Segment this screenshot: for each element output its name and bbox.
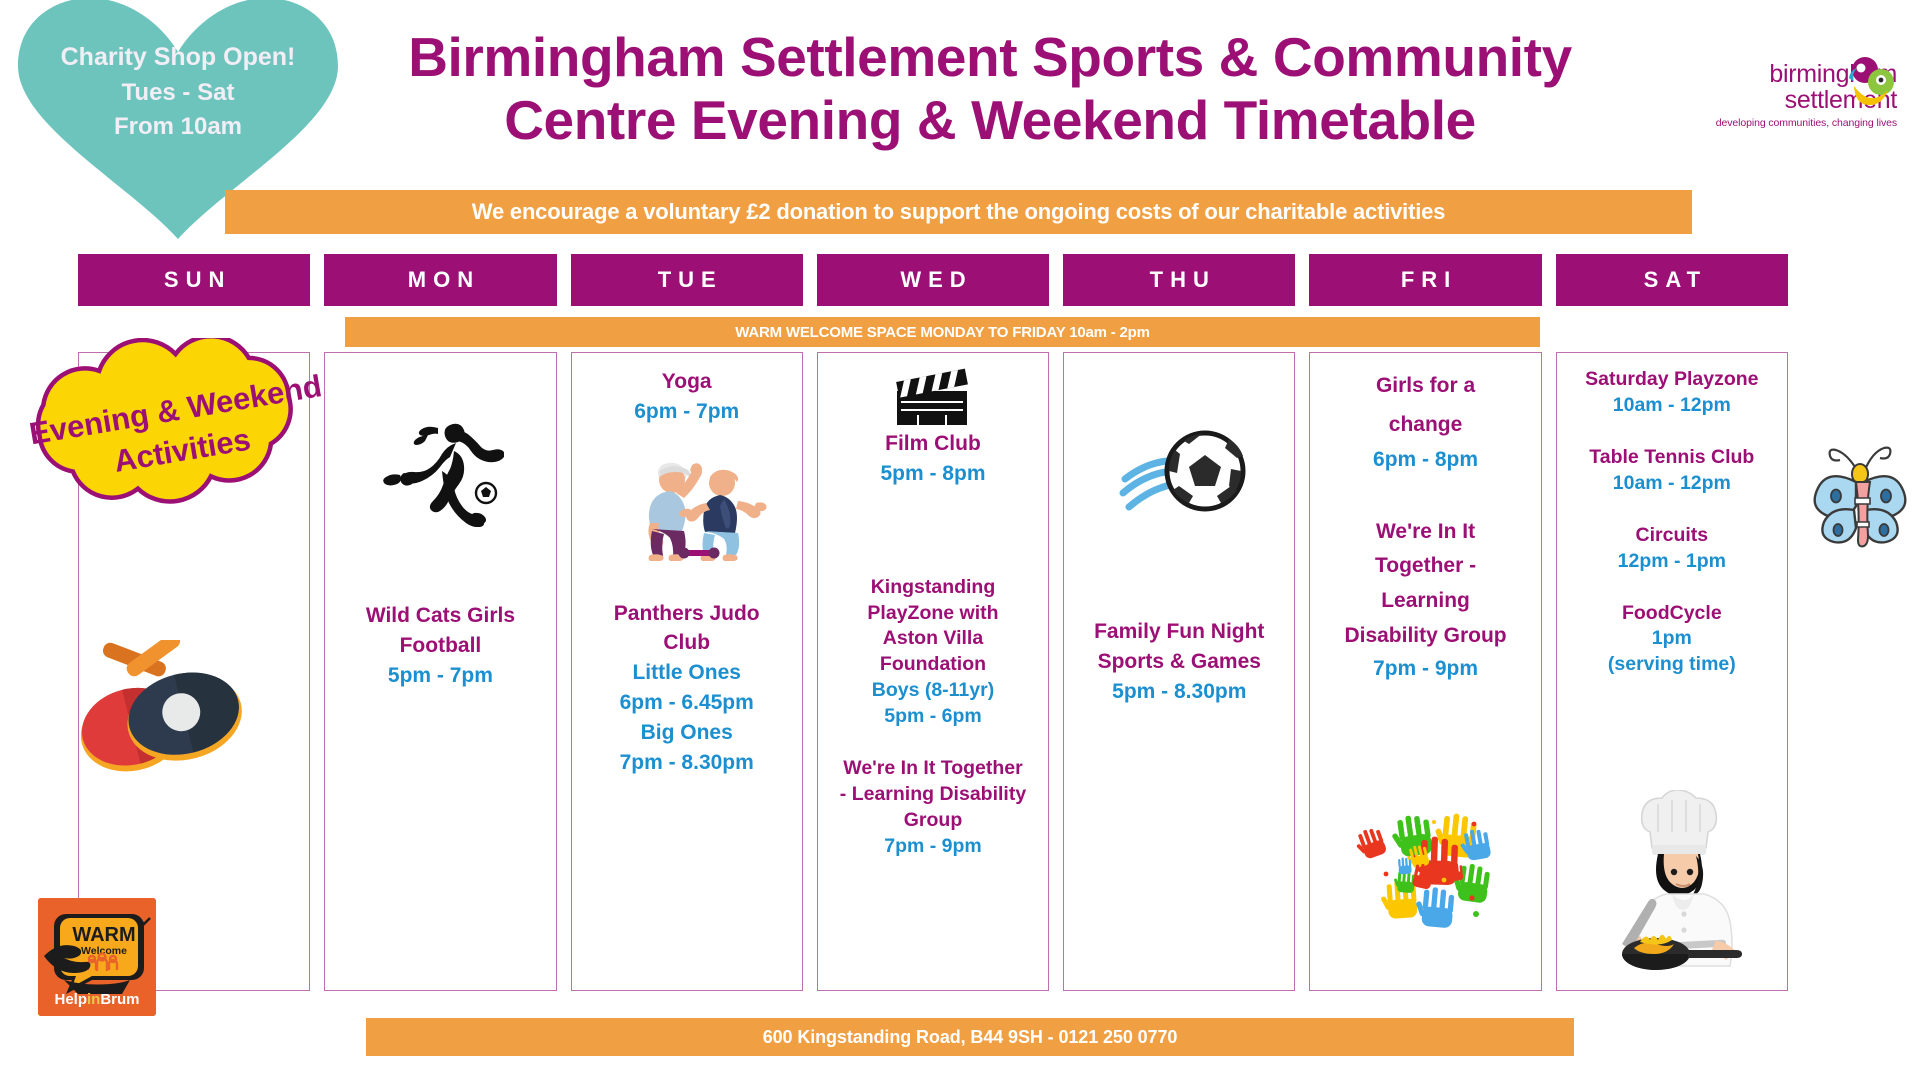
event-name: We're In It Together- Learning Disabilit… <box>828 756 1038 834</box>
event-name: Panthers JudoClub <box>582 599 792 659</box>
event-time: Little Ones6pm - 6.45pmBig Ones7pm - 8.3… <box>582 658 792 777</box>
event-were-in-it-together-fri: We're In ItTogether -LearningDisability … <box>1320 515 1530 684</box>
event-name: Yoga <box>582 367 792 397</box>
event-time: 7pm - 9pm <box>828 834 1038 860</box>
svg-text:HelpinBrum: HelpinBrum <box>54 991 139 1008</box>
event-time: 6pm - 7pm <box>582 397 792 427</box>
event-panthers-judo-club: Panthers JudoClub Little Ones6pm - 6.45p… <box>582 599 792 778</box>
event-saturday-playzone: Saturday Playzone 10am - 12pm <box>1567 367 1777 419</box>
event-name: Wild Cats GirlsFootball <box>335 601 545 661</box>
event-yoga: Yoga 6pm - 7pm <box>582 367 792 427</box>
event-time: 5pm - 8.30pm <box>1074 677 1284 707</box>
event-time: 1pm(serving time) <box>1567 626 1777 678</box>
day-header-sat: SAT <box>1556 254 1788 306</box>
warm-welcome-helpinbrum-logo: WARM Welcome HelpinBrum <box>38 898 156 1016</box>
day-header-row: SUN MON TUE WED THU FRI SAT <box>78 254 1788 306</box>
exercise-pair-icon <box>582 453 792 573</box>
event-family-fun-night: Family Fun NightSports & Games 5pm - 8.3… <box>1074 617 1284 706</box>
event-time: 10am - 12pm <box>1567 393 1777 419</box>
event-name: Circuits <box>1567 523 1777 549</box>
timetable-poster: Charity Shop Open! Tues - Sat From 10am … <box>0 0 1920 1080</box>
page-title-line1: Birmingham Settlement Sports & Community <box>290 26 1690 89</box>
event-wild-cats-girls-football: Wild Cats GirlsFootball 5pm - 7pm <box>335 601 545 690</box>
ping-pong-paddles-icon <box>62 640 252 785</box>
event-time: 12pm - 1pm <box>1567 549 1777 575</box>
day-header-wed: WED <box>817 254 1049 306</box>
page-title-line2: Centre Evening & Weekend Timetable <box>290 89 1690 152</box>
address-bar: 600 Kingstanding Road, B44 9SH - 0121 25… <box>366 1018 1574 1056</box>
soccer-ball-icon <box>1074 427 1284 535</box>
donation-banner: We encourage a voluntary £2 donation to … <box>225 190 1692 234</box>
event-name: Film Club <box>828 429 1038 459</box>
page-title: Birmingham Settlement Sports & Community… <box>290 26 1690 151</box>
event-name: Family Fun NightSports & Games <box>1074 617 1284 677</box>
event-foodcycle: FoodCycle 1pm(serving time) <box>1567 601 1777 679</box>
event-circuits: Circuits 12pm - 1pm <box>1567 523 1777 575</box>
column-wed: Film Club 5pm - 8pm KingstandingPlayZone… <box>817 352 1049 991</box>
settlement-logo-mark-icon <box>1841 56 1899 108</box>
event-time: Boys (8-11yr)5pm - 6pm <box>828 678 1038 730</box>
event-name: FoodCycle <box>1567 601 1777 627</box>
column-thu: Family Fun NightSports & Games 5pm - 8.3… <box>1063 352 1295 991</box>
day-header-tue: TUE <box>571 254 803 306</box>
event-name: KingstandingPlayZone withAston VillaFoun… <box>828 575 1038 679</box>
butterfly-icon <box>1812 442 1908 559</box>
event-time: 5pm - 7pm <box>335 661 545 691</box>
event-table-tennis-club: Table Tennis Club 10am - 12pm <box>1567 445 1777 497</box>
event-girls-for-a-change: Girls for achange 6pm - 8pm <box>1320 367 1530 475</box>
event-kingstanding-playzone: KingstandingPlayZone withAston VillaFoun… <box>828 575 1038 731</box>
handprints-icon <box>1348 800 1508 935</box>
birmingham-settlement-logo: birmingham settlement developing communi… <box>1712 62 1897 129</box>
event-time: 7pm - 9pm <box>1320 654 1530 684</box>
evening-weekend-activities-badge: Evening & Weekend Activities <box>0 338 372 548</box>
event-time: 6pm - 8pm <box>1320 445 1530 475</box>
warm-welcome-space-banner: WARM WELCOME SPACE MONDAY TO FRIDAY 10am… <box>345 317 1540 347</box>
event-name: Saturday Playzone <box>1567 367 1777 393</box>
day-header-sun: SUN <box>78 254 310 306</box>
event-film-club: Film Club 5pm - 8pm <box>828 429 1038 489</box>
chef-icon <box>1600 790 1772 975</box>
svg-text:WARM: WARM <box>72 924 135 946</box>
event-name: Girls for achange <box>1320 367 1530 445</box>
event-time: 10am - 12pm <box>1567 471 1777 497</box>
event-name: We're In ItTogether -LearningDisability … <box>1320 515 1530 654</box>
event-name: Table Tennis Club <box>1567 445 1777 471</box>
day-header-thu: THU <box>1063 254 1295 306</box>
event-were-in-it-together-wed: We're In It Together- Learning Disabilit… <box>828 756 1038 860</box>
column-tue: Yoga 6pm - 7pm <box>571 352 803 991</box>
day-header-mon: MON <box>324 254 556 306</box>
event-time: 5pm - 8pm <box>828 459 1038 489</box>
day-header-fri: FRI <box>1309 254 1541 306</box>
logo-tagline: developing communities, changing lives <box>1712 117 1897 129</box>
clapperboard-icon <box>828 367 1038 429</box>
